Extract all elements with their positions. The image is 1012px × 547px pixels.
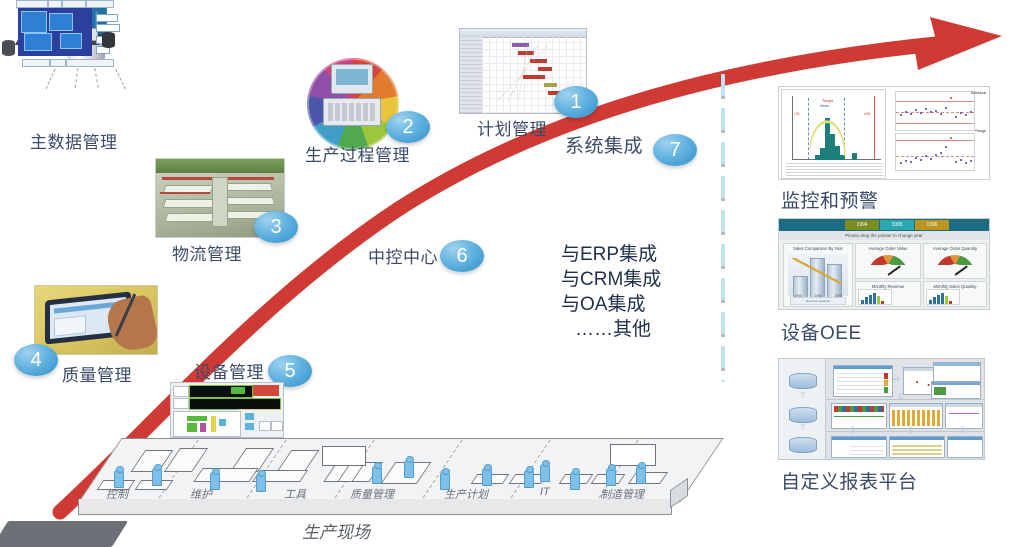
oee-card-title-aoq: Average Order Quantity: [924, 246, 986, 251]
oee-year-1996[interactable]: 1996: [915, 220, 949, 230]
shopfloor-caption: 生产现场: [302, 518, 370, 543]
oee-card-title-sales: Sales Comparison By Year: [784, 246, 852, 251]
module-label-plan: 计划管理: [477, 115, 547, 140]
module-label-control: 中控中心: [368, 243, 438, 268]
oee-year-1994[interactable]: 1994: [845, 220, 879, 230]
zone-label-tools: 工具: [284, 486, 306, 502]
module-label-process: 生产过程管理: [305, 141, 410, 166]
integration-item-oa: 与OA集成: [561, 292, 661, 317]
shopfloor-isometric: 控制 维护 工具 质量管理 生产计划 IT 制造管理 生产现场: [70, 438, 710, 533]
integration-item-other: ……其他: [561, 317, 661, 342]
module-label-sysint: 系统集成: [565, 131, 643, 158]
badge-1[interactable]: 1: [554, 86, 598, 118]
badge-2[interactable]: 2: [386, 111, 430, 143]
badge-3[interactable]: 3: [254, 211, 298, 243]
mes-architecture-diagram: MDM 主数据管理 2 生产过程管理 1 计划管理: [0, 0, 1012, 547]
module-label-quality: 质量管理: [62, 361, 132, 386]
badge-4[interactable]: 4: [14, 344, 58, 376]
badge-6[interactable]: 6: [440, 240, 484, 272]
tablet-photo-icon: [34, 285, 158, 355]
panel-label-oee: 设备OEE: [781, 318, 862, 345]
integration-item-erp: 与ERP集成: [561, 242, 661, 267]
zone-label-plan: 生产计划: [444, 486, 488, 502]
report-flow-icon: ⇧ ⇧ ⇨ ⇨ ⇨ ⇩ ⇩ ⇩ ⇩: [778, 358, 985, 460]
oee-year-1995[interactable]: 1995: [880, 220, 914, 230]
badge-7[interactable]: 7: [653, 134, 697, 166]
oee-hint: Please drag the pointer to change year: [779, 231, 989, 240]
oee-dashboard-icon: 1994 1995 1996 Please drag the pointer t…: [778, 218, 990, 310]
zone-label-it: IT: [540, 486, 550, 498]
scada-screen-icon: [170, 382, 284, 438]
module-label-logistics: 物流管理: [172, 240, 242, 265]
capability-histogram-icon: Target Mean LSL USL: [778, 86, 990, 180]
integration-item-list: 与ERP集成 与CRM集成 与OA集成 ……其他: [561, 242, 661, 342]
production-wheel-icon: [307, 58, 399, 150]
oee-card-title-aov: Average Order Value: [856, 246, 920, 251]
integration-item-crm: 与CRM集成: [561, 267, 661, 292]
module-label-mdm: 主数据管理: [30, 128, 118, 153]
module-label-equipment: 设备管理: [194, 358, 264, 383]
panel-label-report: 自定义报表平台: [781, 467, 918, 494]
panel-label-monitor: 监控和预警: [781, 186, 879, 213]
zone-label-maintenance: 维护: [190, 486, 212, 502]
zone-label-control: 控制: [106, 486, 128, 502]
zone-label-manufacturing: 制造管理: [600, 486, 644, 502]
section-divider: [721, 74, 725, 382]
zone-label-quality: 质量管理: [350, 486, 394, 502]
